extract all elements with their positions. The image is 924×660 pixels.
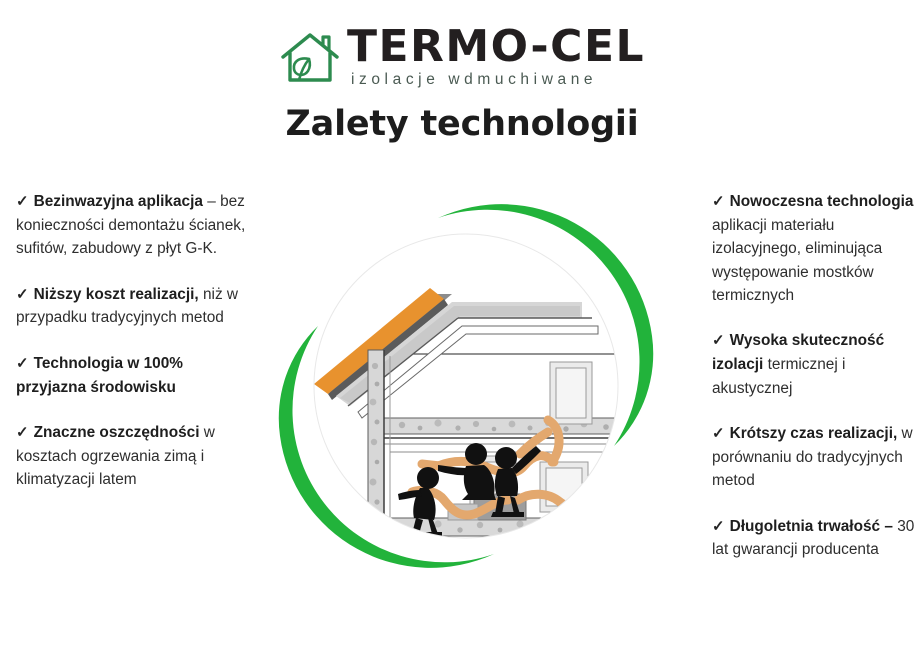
- house-leaf-icon: [279, 28, 341, 86]
- check-icon: ✓: [712, 193, 725, 210]
- brand-wordmark: TERMO-CEL: [347, 25, 645, 68]
- benefits-list-left: ✓Bezinwazyjna aplikacja – bez koniecznoś…: [16, 190, 256, 514]
- check-icon: ✓: [712, 425, 725, 442]
- worker-ground-left: [418, 540, 462, 606]
- benefit-title: Nowoczesna technologia: [730, 193, 914, 210]
- benefit-item: ✓Znaczne oszczędności w kosztach ogrzewa…: [16, 421, 256, 492]
- check-icon: ✓: [16, 424, 29, 441]
- benefit-title: Technologia w 100% przyjazna środowisku: [16, 355, 183, 396]
- page-title: Zalety technologii: [0, 104, 924, 144]
- benefit-title: Długoletnia trwałość –: [730, 518, 893, 535]
- check-icon: ✓: [16, 286, 29, 303]
- benefit-title: Bezinwazyjna aplikacja: [34, 193, 203, 210]
- check-icon: ✓: [16, 355, 29, 372]
- worker-ground-right: [474, 560, 512, 606]
- benefit-item: ✓Nowoczesna technologia aplikacji materi…: [712, 190, 917, 307]
- benefit-item: ✓Niższy koszt realizacji, niż w przypadk…: [16, 283, 256, 330]
- check-icon: ✓: [712, 332, 725, 349]
- brand-tagline: izolacje wdmuchiwane: [351, 71, 645, 89]
- benefit-item: ✓Wysoka skuteczność izolacji termicznej …: [712, 329, 917, 400]
- house-cross-section-illustration: [262, 166, 670, 606]
- brand-text: TERMO-CEL izolacje wdmuchiwane: [347, 25, 645, 88]
- brand-logo: TERMO-CEL izolacje wdmuchiwane: [0, 22, 924, 92]
- benefit-title: Znaczne oszczędności: [34, 424, 200, 441]
- check-icon: ✓: [712, 518, 725, 535]
- benefit-item: ✓Krótszy czas realizacji, w porównaniu d…: [712, 422, 917, 493]
- benefit-title: Krótszy czas realizacji,: [730, 425, 898, 442]
- benefit-item: ✓Technologia w 100% przyjazna środowisku: [16, 352, 256, 399]
- benefit-title: Niższy koszt realizacji,: [34, 286, 199, 303]
- benefit-item: ✓Długoletnia trwałość – 30 lat gwarancji…: [712, 515, 917, 562]
- benefit-detail: aplikacji materiału izolacyjnego, elimin…: [712, 217, 882, 304]
- benefits-list-right: ✓Nowoczesna technologia aplikacji materi…: [712, 190, 917, 584]
- check-icon: ✓: [16, 193, 29, 210]
- benefit-item: ✓Bezinwazyjna aplikacja – bez koniecznoś…: [16, 190, 256, 261]
